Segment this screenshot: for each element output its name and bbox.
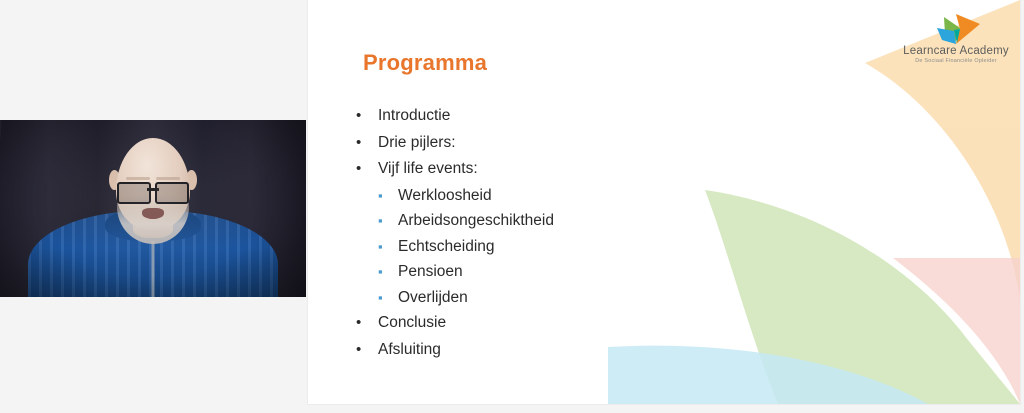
list-item: ▪ Overlijden (356, 290, 916, 306)
presenter-video-tile[interactable] (0, 120, 306, 297)
logo-arrow-icon (930, 12, 982, 46)
list-item-label: Drie pijlers: (378, 135, 456, 151)
list-item-label: Pensioen (398, 264, 463, 280)
list-item: • Afsluiting (356, 342, 916, 358)
bullet-marker-icon: • (356, 161, 378, 176)
list-item-label: Introductie (378, 108, 450, 124)
bullet-marker-icon: • (356, 315, 378, 330)
logo-tagline: De Sociaal Financiële Opleider (900, 58, 1012, 64)
list-item-label: Echtscheiding (398, 239, 495, 255)
list-item-label: Arbeidsongeschiktheid (398, 213, 554, 229)
sub-bullet-marker-icon: ▪ (378, 189, 398, 202)
logo-name: Learncare Academy (900, 45, 1012, 57)
sub-bullet-marker-icon: ▪ (378, 291, 398, 304)
list-item: • Conclusie (356, 315, 916, 331)
sub-bullet-marker-icon: ▪ (378, 240, 398, 253)
list-item: ▪ Pensioen (356, 264, 916, 280)
list-item-label: Afsluiting (378, 342, 441, 358)
bullet-marker-icon: • (356, 135, 378, 150)
bullet-marker-icon: • (356, 108, 378, 123)
slide-bullet-list: • Introductie • Drie pijlers: • Vijf lif… (356, 108, 916, 368)
sub-bullet-marker-icon: ▪ (378, 214, 398, 227)
list-item: ▪ Werkloosheid (356, 188, 916, 204)
list-item: • Vijf life events: (356, 161, 916, 177)
list-item-label: Conclusie (378, 315, 446, 331)
list-item: ▪ Arbeidsongeschiktheid (356, 213, 916, 229)
list-item-label: Werkloosheid (398, 188, 492, 204)
list-item-label: Vijf life events: (378, 161, 478, 177)
list-item: ▪ Echtscheiding (356, 239, 916, 255)
slide-title: Programma (363, 50, 487, 76)
list-item: • Introductie (356, 108, 916, 124)
screen-root: Programma • Introductie • Drie pijlers: … (0, 0, 1024, 413)
bullet-marker-icon: • (356, 342, 378, 357)
video-vignette (0, 120, 306, 297)
list-item-label: Overlijden (398, 290, 468, 306)
list-item: • Drie pijlers: (356, 135, 916, 151)
brand-logo: Learncare Academy De Sociaal Financiële … (900, 12, 1012, 70)
slide-panel[interactable]: Programma • Introductie • Drie pijlers: … (308, 0, 1020, 404)
sub-bullet-marker-icon: ▪ (378, 265, 398, 278)
